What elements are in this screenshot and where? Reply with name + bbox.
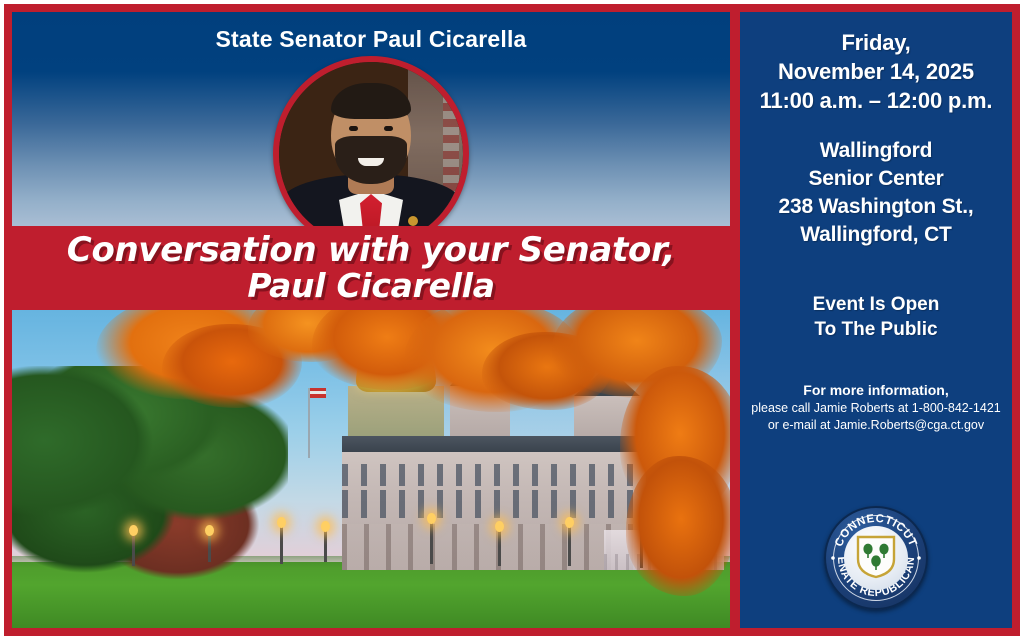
lamp-post bbox=[498, 528, 501, 566]
capitol-spire bbox=[394, 310, 398, 318]
portrait-eye-right bbox=[384, 126, 393, 131]
public-notice-line-2: To The Public bbox=[813, 317, 940, 342]
headline-line-1: Conversation with your Senator, bbox=[67, 233, 675, 268]
senate-republicans-seal: CONNECTICUT SENATE REPUBLICANS bbox=[824, 506, 928, 610]
contact-info: For more information, please call Jamie … bbox=[751, 381, 1000, 434]
contact-heading: For more information, bbox=[751, 381, 1000, 400]
public-notice-line-1: Event Is Open bbox=[813, 292, 940, 317]
capitol-photo bbox=[12, 310, 730, 628]
headline-line-2: Paul Cicarella bbox=[67, 269, 675, 303]
lamp-post bbox=[132, 532, 135, 566]
seal-emblem bbox=[844, 526, 908, 590]
contact-phone-line: please call Jamie Roberts at 1-800-842-1… bbox=[751, 400, 1000, 417]
lapel-pin-icon bbox=[408, 216, 418, 226]
lamp-post bbox=[688, 534, 691, 568]
contact-email-line: or e-mail at Jamie.Roberts@cga.ct.gov bbox=[751, 417, 1000, 434]
flyer-red-frame: State Senator Paul Cicarella bbox=[4, 4, 1020, 636]
portrait-eye-left bbox=[349, 126, 358, 131]
portrait-head bbox=[331, 86, 411, 182]
headline-banner: Conversation with your Senator, Paul Cic… bbox=[12, 226, 730, 310]
capitol-roof bbox=[342, 436, 702, 452]
venue-line-4: Wallingford, CT bbox=[779, 221, 974, 249]
photo-trees bbox=[12, 366, 288, 586]
lamp-post bbox=[430, 520, 433, 564]
venue-line-2: Senior Center bbox=[779, 165, 974, 193]
event-flyer: State Senator Paul Cicarella bbox=[0, 0, 1024, 640]
capitol-windows-lower bbox=[342, 490, 702, 518]
headline-text: Conversation with your Senator, Paul Cic… bbox=[55, 233, 687, 303]
lamp-post bbox=[324, 528, 327, 562]
distant-buildings bbox=[604, 530, 724, 570]
header-banner: State Senator Paul Cicarella bbox=[12, 12, 730, 226]
public-notice: Event Is Open To The Public bbox=[813, 292, 940, 343]
lamp-post bbox=[208, 532, 211, 562]
capitol-windows-upper bbox=[342, 464, 702, 486]
capitol-dome-base bbox=[348, 386, 444, 440]
date-line-3: 11:00 a.m. – 12:00 p.m. bbox=[760, 86, 993, 115]
event-venue-address: Wallingford Senior Center 238 Washington… bbox=[779, 137, 974, 250]
event-datetime: Friday, November 14, 2025 11:00 a.m. – 1… bbox=[760, 28, 993, 115]
senator-portrait-photo bbox=[273, 56, 469, 252]
date-line-2: November 14, 2025 bbox=[760, 57, 993, 86]
venue-line-1: Wallingford bbox=[779, 137, 974, 165]
portrait-smile bbox=[358, 158, 384, 166]
date-line-1: Friday, bbox=[760, 28, 993, 57]
lamp-post bbox=[568, 524, 571, 566]
venue-line-3: 238 Washington St., bbox=[779, 193, 974, 221]
info-panel: Friday, November 14, 2025 11:00 a.m. – 1… bbox=[740, 12, 1012, 628]
lamp-post bbox=[640, 522, 643, 568]
left-column: State Senator Paul Cicarella bbox=[12, 12, 730, 628]
flagpole-icon bbox=[308, 388, 310, 458]
page-title: State Senator Paul Cicarella bbox=[12, 12, 730, 53]
vertical-red-divider bbox=[730, 12, 740, 628]
capitol-lantern bbox=[388, 316, 404, 338]
lamp-post bbox=[280, 524, 283, 564]
connecticut-shield-icon bbox=[854, 533, 898, 584]
